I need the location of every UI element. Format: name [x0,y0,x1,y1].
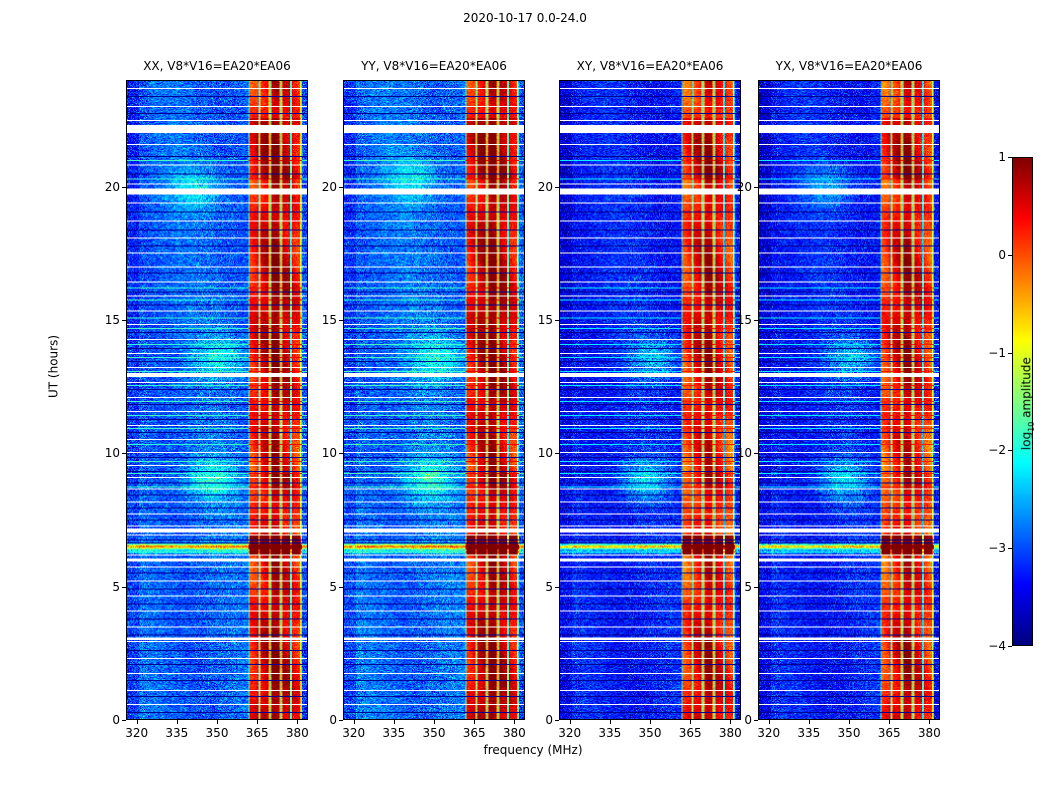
x-tick-mark [769,720,770,724]
colorbar-tick-mark [1008,157,1012,158]
x-tick-mark [570,720,571,724]
x-tick-label: 320 [334,727,374,739]
y-tick-mark [122,320,126,321]
x-tick-mark [434,720,435,724]
x-tick-mark [297,720,298,724]
colorbar-tick-mark [1008,450,1012,451]
y-tick-label: 15 [712,314,752,326]
x-tick-label: 380 [710,727,750,739]
y-tick-mark [754,587,758,588]
x-tick-mark [929,720,930,724]
y-tick-mark [122,720,126,721]
x-axis-label: frequency (MHz) [126,744,940,757]
y-axis-label: UT (hours) [48,307,61,427]
x-tick-label: 365 [237,727,277,739]
x-tick-mark [730,720,731,724]
x-tick-label: 380 [909,727,949,739]
x-tick-mark [889,720,890,724]
x-tick-label: 350 [414,727,454,739]
y-tick-label: 5 [297,581,337,593]
waterfall-image-yy [344,81,524,719]
waterfall-image-yx [759,81,939,719]
x-tick-label: 320 [550,727,590,739]
x-tick-label: 365 [670,727,710,739]
colorbar-tick-mark [1008,353,1012,354]
x-tick-label: 380 [277,727,317,739]
x-tick-label: 320 [749,727,789,739]
y-tick-label: 0 [712,714,752,726]
x-tick-mark [217,720,218,724]
x-tick-label: 335 [157,727,197,739]
x-tick-label: 365 [869,727,909,739]
colorbar-tick-label: 1 [976,151,1006,163]
figure-canvas: 2020-10-17 0.0-24.0 XX, V8*V16=EA20*EA06… [0,0,1050,800]
panel-xx[interactable] [126,80,308,720]
x-tick-label: 335 [374,727,414,739]
panel-yy[interactable] [343,80,525,720]
x-tick-label: 335 [789,727,829,739]
x-tick-mark [354,720,355,724]
y-tick-mark [555,587,559,588]
x-tick-mark [809,720,810,724]
y-tick-label: 20 [513,181,553,193]
colorbar-tick-mark [1008,548,1012,549]
y-tick-mark [754,453,758,454]
y-tick-label: 20 [712,181,752,193]
colorbar-tick-label: 0 [976,249,1006,261]
panel-yx[interactable] [758,80,940,720]
colorbar-tick-mark [1008,255,1012,256]
y-tick-label: 0 [80,714,120,726]
colorbar-label: log10 amplitude [1020,304,1037,504]
y-tick-label: 5 [513,581,553,593]
panel-title-xx: XX, V8*V16=EA20*EA06 [126,59,308,73]
x-tick-mark [650,720,651,724]
x-tick-mark [690,720,691,724]
y-tick-label: 20 [80,181,120,193]
x-tick-mark [474,720,475,724]
figure-suptitle: 2020-10-17 0.0-24.0 [0,11,1050,25]
y-tick-label: 20 [297,181,337,193]
x-tick-mark [177,720,178,724]
colorbar-tick-label: −3 [976,542,1006,554]
y-tick-label: 0 [513,714,553,726]
panel-title-xy: XY, V8*V16=EA20*EA06 [559,59,741,73]
y-tick-mark [555,720,559,721]
y-tick-mark [122,453,126,454]
y-tick-label: 15 [513,314,553,326]
y-tick-mark [555,187,559,188]
x-tick-mark [257,720,258,724]
waterfall-image-xx [127,81,307,719]
panel-xy[interactable] [559,80,741,720]
y-tick-mark [754,320,758,321]
x-tick-mark [137,720,138,724]
x-tick-mark [514,720,515,724]
y-tick-mark [339,320,343,321]
y-tick-label: 10 [513,447,553,459]
panel-title-yx: YX, V8*V16=EA20*EA06 [758,59,940,73]
colorbar-label-sub: 10 [1027,422,1036,432]
colorbar-label-prefix: log [1019,432,1033,450]
x-tick-mark [849,720,850,724]
colorbar-tick-label: −2 [976,444,1006,456]
y-tick-label: 0 [297,714,337,726]
x-tick-label: 350 [829,727,869,739]
x-tick-label: 320 [117,727,157,739]
y-tick-mark [339,187,343,188]
y-tick-mark [339,587,343,588]
colorbar-tick-label: −4 [976,640,1006,652]
y-tick-mark [555,453,559,454]
x-tick-label: 365 [454,727,494,739]
y-tick-mark [754,187,758,188]
y-tick-label: 10 [712,447,752,459]
x-tick-label: 335 [590,727,630,739]
x-tick-label: 380 [494,727,534,739]
y-tick-mark [122,587,126,588]
colorbar-tick-label: −1 [976,347,1006,359]
x-tick-mark [610,720,611,724]
y-tick-label: 15 [297,314,337,326]
y-tick-mark [339,453,343,454]
x-tick-mark [394,720,395,724]
y-tick-label: 10 [80,447,120,459]
y-tick-mark [339,720,343,721]
panel-title-yy: YY, V8*V16=EA20*EA06 [343,59,525,73]
y-tick-mark [122,187,126,188]
waterfall-image-xy [560,81,740,719]
x-tick-label: 350 [630,727,670,739]
y-tick-mark [555,320,559,321]
colorbar-label-suffix: amplitude [1019,357,1033,421]
colorbar-tick-mark [1008,646,1012,647]
y-tick-label: 15 [80,314,120,326]
x-tick-label: 350 [197,727,237,739]
y-tick-label: 5 [712,581,752,593]
y-tick-mark [754,720,758,721]
y-tick-label: 10 [297,447,337,459]
y-tick-label: 5 [80,581,120,593]
